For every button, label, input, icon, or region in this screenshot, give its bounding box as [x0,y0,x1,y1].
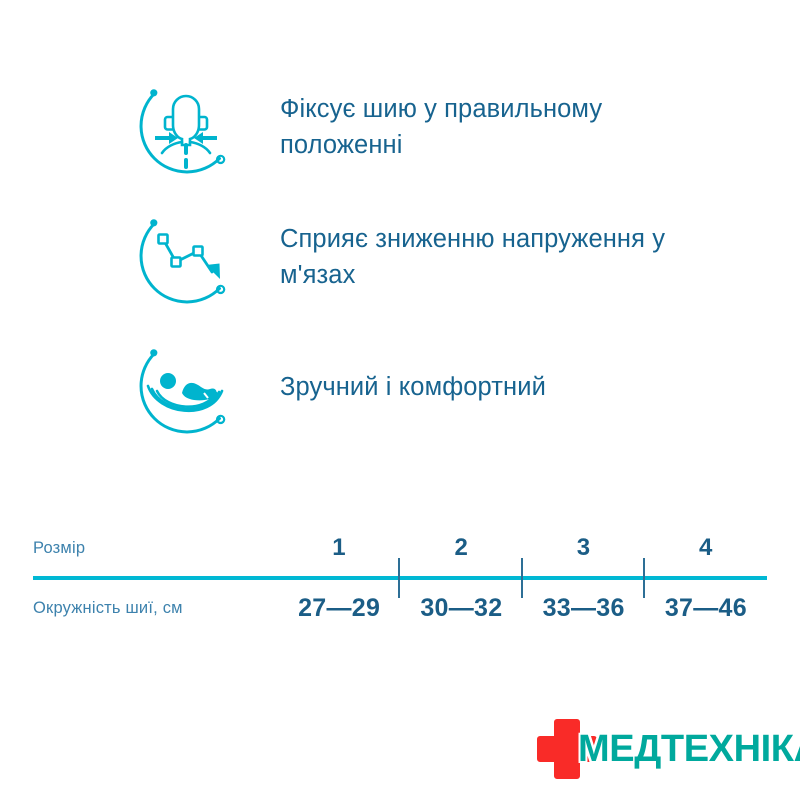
table-row: Окружність шиї, см 27—29 30—32 33—36 37—… [33,580,767,636]
head-neck-support-icon [128,69,244,185]
row-label: Розмір [33,539,278,558]
declining-chart-icon [128,199,244,315]
table-cell: 33—36 [523,594,645,623]
feature-item: Сприяє зниженню напруження у м'язах [0,192,800,322]
table-cell: 30—32 [400,594,522,623]
person-in-hammock-icon [128,329,244,445]
inward-arrows [155,132,217,144]
brand-logo: МЕДТЕХНІКА [534,714,786,786]
logo-rest-letters: ЕДТЕХНІКА [609,728,800,770]
row-label: Окружність шиї, см [33,599,278,618]
table-cell: 4 [645,534,767,562]
logo-wordmark: МЕДТЕХНІКА [578,730,800,768]
feature-label: Сприяє зниженню напруження у м'язах [280,221,700,293]
feature-item: Зручний і комфортний [0,322,800,452]
arrow-head [206,264,220,280]
row-cells: 27—29 30—32 33—36 37—46 [278,594,767,623]
chart-nodes [159,235,203,267]
row-cells: 1 2 3 4 [278,534,767,562]
table-row: Розмір 1 2 3 4 [33,520,767,576]
table-cell: 1 [278,534,400,562]
table-cell: 27—29 [278,594,400,623]
logo-first-letter: М [578,728,609,770]
person-shape [182,383,217,400]
features-list: Фіксує шию у правильному положенні Сприя… [0,62,800,452]
table-cell: 2 [400,534,522,562]
feature-label: Фіксує шию у правильному положенні [280,91,700,163]
sun-shape [160,373,176,389]
table-cell: 37—46 [645,594,767,623]
feature-label: Зручний і комфортний [280,369,546,405]
feature-item: Фіксує шию у правильному положенні [0,62,800,192]
table-cell: 3 [523,534,645,562]
size-table: Розмір 1 2 3 4 Окружність шиї, см 27—29 … [33,520,767,636]
